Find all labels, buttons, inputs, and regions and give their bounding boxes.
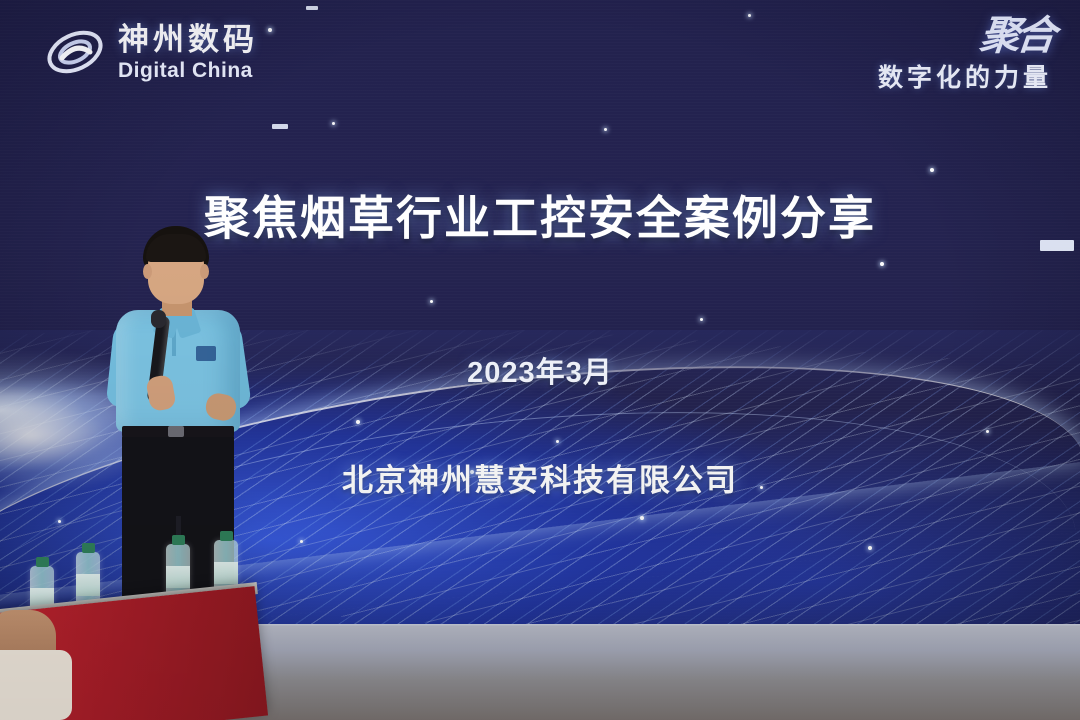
bottle-label [214,562,238,584]
particle-dot [880,262,884,266]
audience-shoulder [0,650,72,720]
speaker-hair-front [146,234,206,262]
bottle-cap [82,543,95,553]
event-slogan: 聚合 数字化的力量 [878,18,1052,94]
particle-dot [58,520,61,523]
particle-dot [748,14,751,17]
bottle-label [76,574,100,596]
particle-dot [930,168,934,172]
particle-dot [556,440,559,443]
bottle-cap [36,557,49,567]
speaker-ear-right [200,264,209,279]
digital-china-swirl-icon [44,22,106,82]
slogan-calligraphy: 聚合 [876,18,1054,54]
particle-dot [868,546,872,550]
brand-name-en: Digital China [118,60,258,81]
particle-dot [640,516,644,520]
particle-dot [700,318,703,321]
particle-dot [332,122,335,125]
particle-dot [986,430,989,433]
particle-dash [306,6,318,10]
bottle-cap [172,535,185,545]
particle-dot [430,300,433,303]
brand-name-cn: 神州数码 [118,24,258,55]
speaker-ear-left [143,264,152,279]
particle-dot [604,128,607,131]
particle-dash [272,124,288,129]
particle-dot [356,420,360,424]
microphone-head [151,310,166,328]
conference-photo: 神州数码 Digital China 聚合 数字化的力量 聚焦烟草行业工控安全案… [0,0,1080,720]
slogan-subtitle: 数字化的力量 [878,58,1052,94]
brand-logo: 神州数码 Digital China [44,22,258,82]
particle-dot [268,28,272,32]
speaker-chest-logo [196,346,216,361]
bottle-label [166,566,190,588]
speaker-belt-buckle [168,426,184,437]
bottle-cap [220,531,233,541]
particle-dot [300,540,303,543]
